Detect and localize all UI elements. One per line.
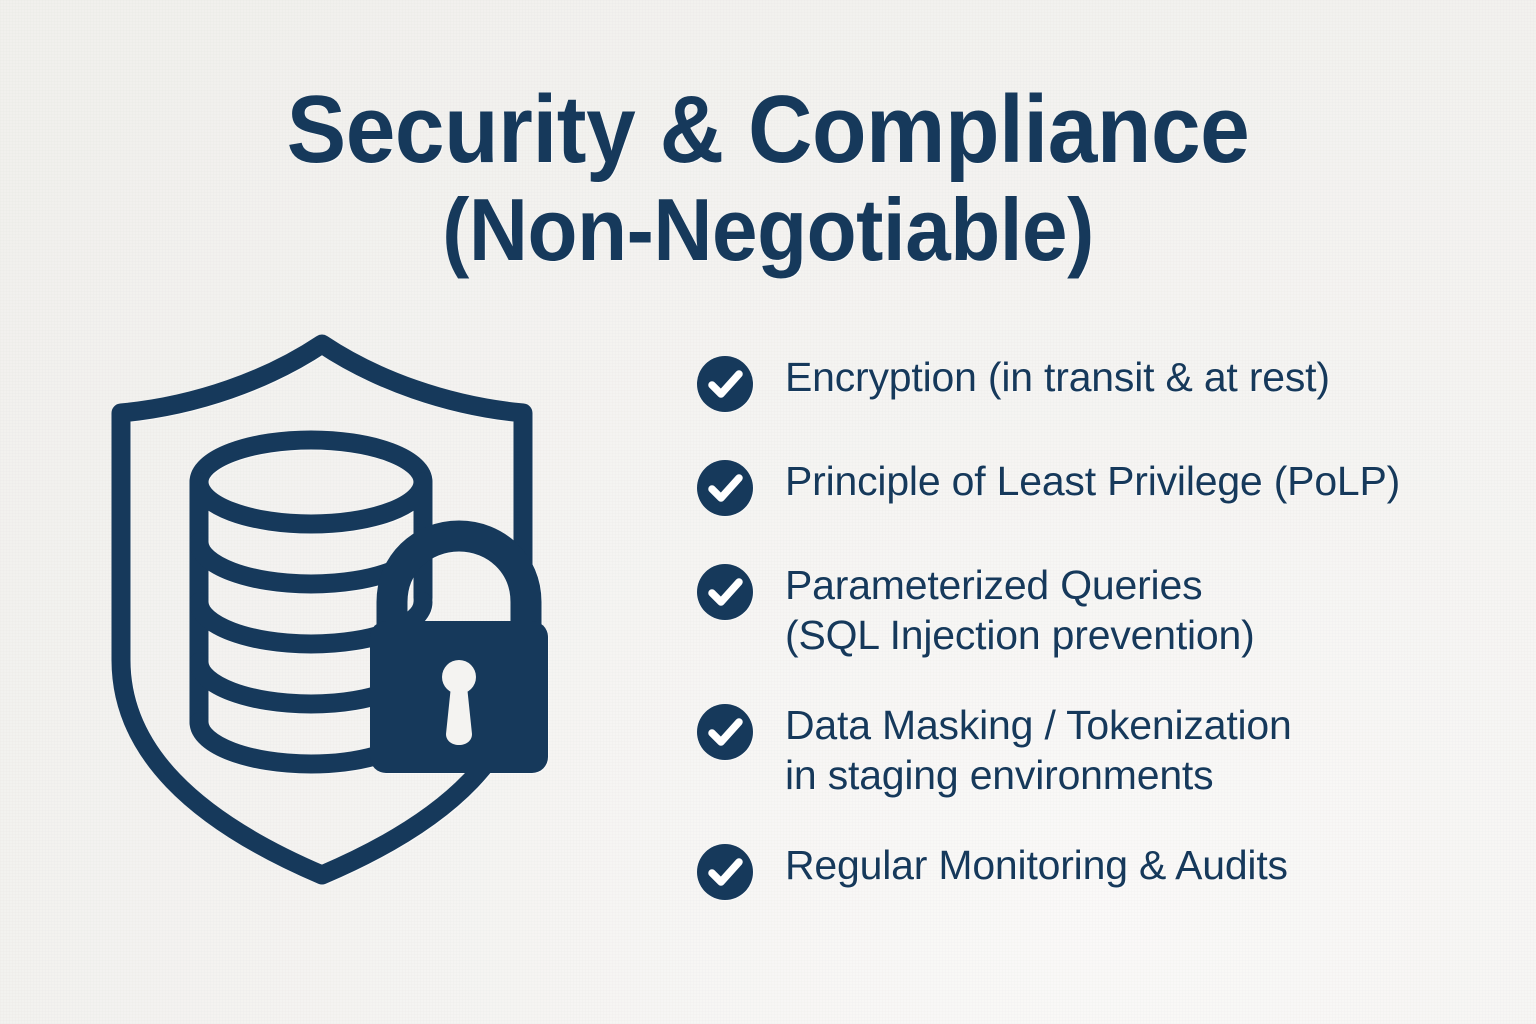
list-item[interactable]: Encryption (in transit & at rest) [697, 352, 1497, 412]
database-ring-3-icon [199, 662, 389, 704]
check-circle-icon [697, 356, 753, 412]
title-line-secondary: (Non-Negotiable) [54, 182, 1482, 278]
list-item-label: Encryption (in transit & at rest) [785, 352, 1330, 402]
list-item[interactable]: Principle of Least Privilege (PoLP) [697, 456, 1497, 516]
security-checklist: Encryption (in transit & at rest) Princi… [697, 352, 1497, 900]
list-item-label: Parameterized Queries (SQL Injection pre… [785, 560, 1255, 660]
check-circle-icon [697, 564, 753, 620]
check-circle-icon [697, 460, 753, 516]
title-line-primary: Security & Compliance [54, 78, 1482, 182]
shield-database-lock-icon [98, 330, 558, 890]
list-item[interactable]: Data Masking / Tokenization in staging e… [697, 700, 1497, 800]
check-circle-icon [697, 704, 753, 760]
list-item[interactable]: Regular Monitoring & Audits [697, 840, 1497, 900]
page-title: Security & Compliance (Non-Negotiable) [0, 78, 1536, 278]
shield-outline-icon [121, 344, 523, 875]
database-bottom-curve-icon [199, 722, 375, 764]
list-item-label: Principle of Least Privilege (PoLP) [785, 456, 1400, 506]
list-item[interactable]: Parameterized Queries (SQL Injection pre… [697, 560, 1497, 660]
database-top-ellipse-icon [199, 440, 423, 524]
slide-canvas: Security & Compliance (Non-Negotiable) [0, 0, 1536, 1024]
list-item-label: Regular Monitoring & Audits [785, 840, 1288, 890]
check-circle-icon [697, 844, 753, 900]
shield-database-lock-svg [98, 330, 558, 890]
list-item-label: Data Masking / Tokenization in staging e… [785, 700, 1292, 800]
